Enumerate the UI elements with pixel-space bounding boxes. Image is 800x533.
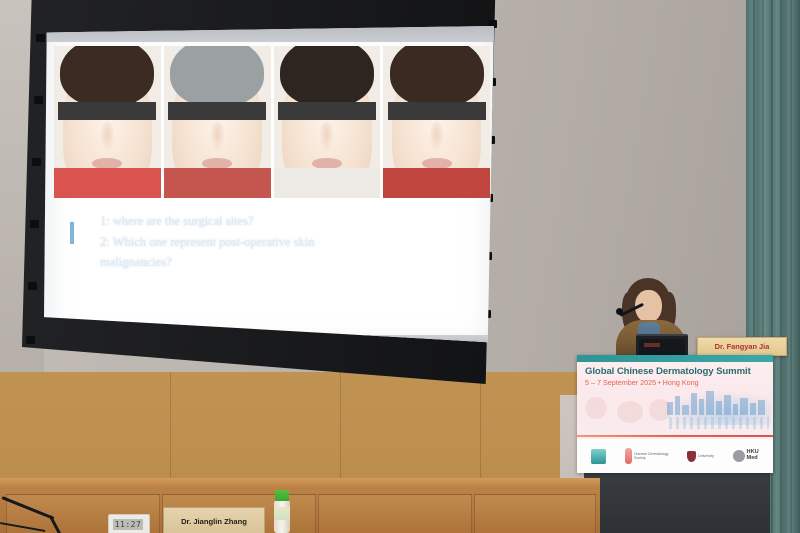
redaction-bar [58, 102, 156, 120]
patient-photo-2 [164, 46, 271, 198]
logo-university-text: University [698, 454, 714, 458]
podium-nameplate: Dr. Fangyan Jia [697, 337, 787, 356]
table-nameplate-text: Dr. Jianglin Zhang [181, 517, 247, 526]
logo-society-text: Chinese DermatologySociety [634, 452, 669, 461]
digital-timer: 11:27 [108, 514, 150, 533]
lectern-podium: Dr. Fangyan Jia Global Chinese Dermatolo… [575, 355, 775, 533]
patient-photo-4 [383, 46, 490, 198]
patient-photo-row [54, 46, 490, 198]
summit-dates-location: 5 – 7 September 2025 • Hong Kong [585, 378, 699, 387]
microphone-cable [0, 494, 120, 533]
patient-photo-1 [54, 46, 161, 198]
patient-photo-3 [274, 46, 381, 198]
logo-hku-med-text: HKUMed [747, 450, 759, 462]
logo-university: University [687, 447, 714, 466]
banner-top-bar [577, 355, 773, 362]
redaction-bar [168, 102, 266, 120]
microphone-icon [616, 308, 623, 315]
table-nameplate: Dr. Jianglin Zhang [163, 507, 265, 533]
podium-banner: Global Chinese Dermatology Summit 5 – 7 … [577, 355, 773, 473]
bottle-cap [275, 490, 289, 501]
podium-nameplate-text: Dr. Fangyan Jia [715, 342, 770, 351]
slide-question-1: 1: where are the surgical sites? [100, 212, 470, 231]
redaction-bar [278, 102, 376, 120]
bottle-label [274, 507, 290, 520]
slide-question-2b: malignancies? [100, 253, 470, 272]
slide-surface: 1: where are the surgical sites? 2: Whic… [44, 26, 494, 348]
conference-photo-scene: 1: where are the surgical sites? 2: Whic… [0, 0, 800, 533]
logo-hku-med: HKUMed [733, 447, 759, 466]
timer-display: 11:27 [113, 519, 143, 530]
sponsor-logo-strip: Chinese DermatologySociety University HK… [577, 439, 773, 473]
redaction-bar [388, 102, 486, 120]
slide-question-2: 2: Which one represent post-operative sk… [100, 233, 470, 252]
logo-society: Chinese DermatologySociety [625, 447, 669, 466]
slide-accent-bar [70, 222, 74, 244]
harbour-water-graphic [669, 417, 769, 429]
projection-screen: 1: where are the surgical sites? 2: Whic… [6, 0, 516, 400]
speaker-presenter [614, 278, 690, 360]
logo-gcds [591, 447, 606, 466]
slide-question-text: 1: where are the surgical sites? 2: Whic… [100, 212, 470, 274]
podium-body [584, 463, 770, 533]
water-bottle [274, 490, 290, 533]
banner-divider [577, 435, 773, 437]
summit-title: Global Chinese Dermatology Summit [585, 366, 751, 377]
